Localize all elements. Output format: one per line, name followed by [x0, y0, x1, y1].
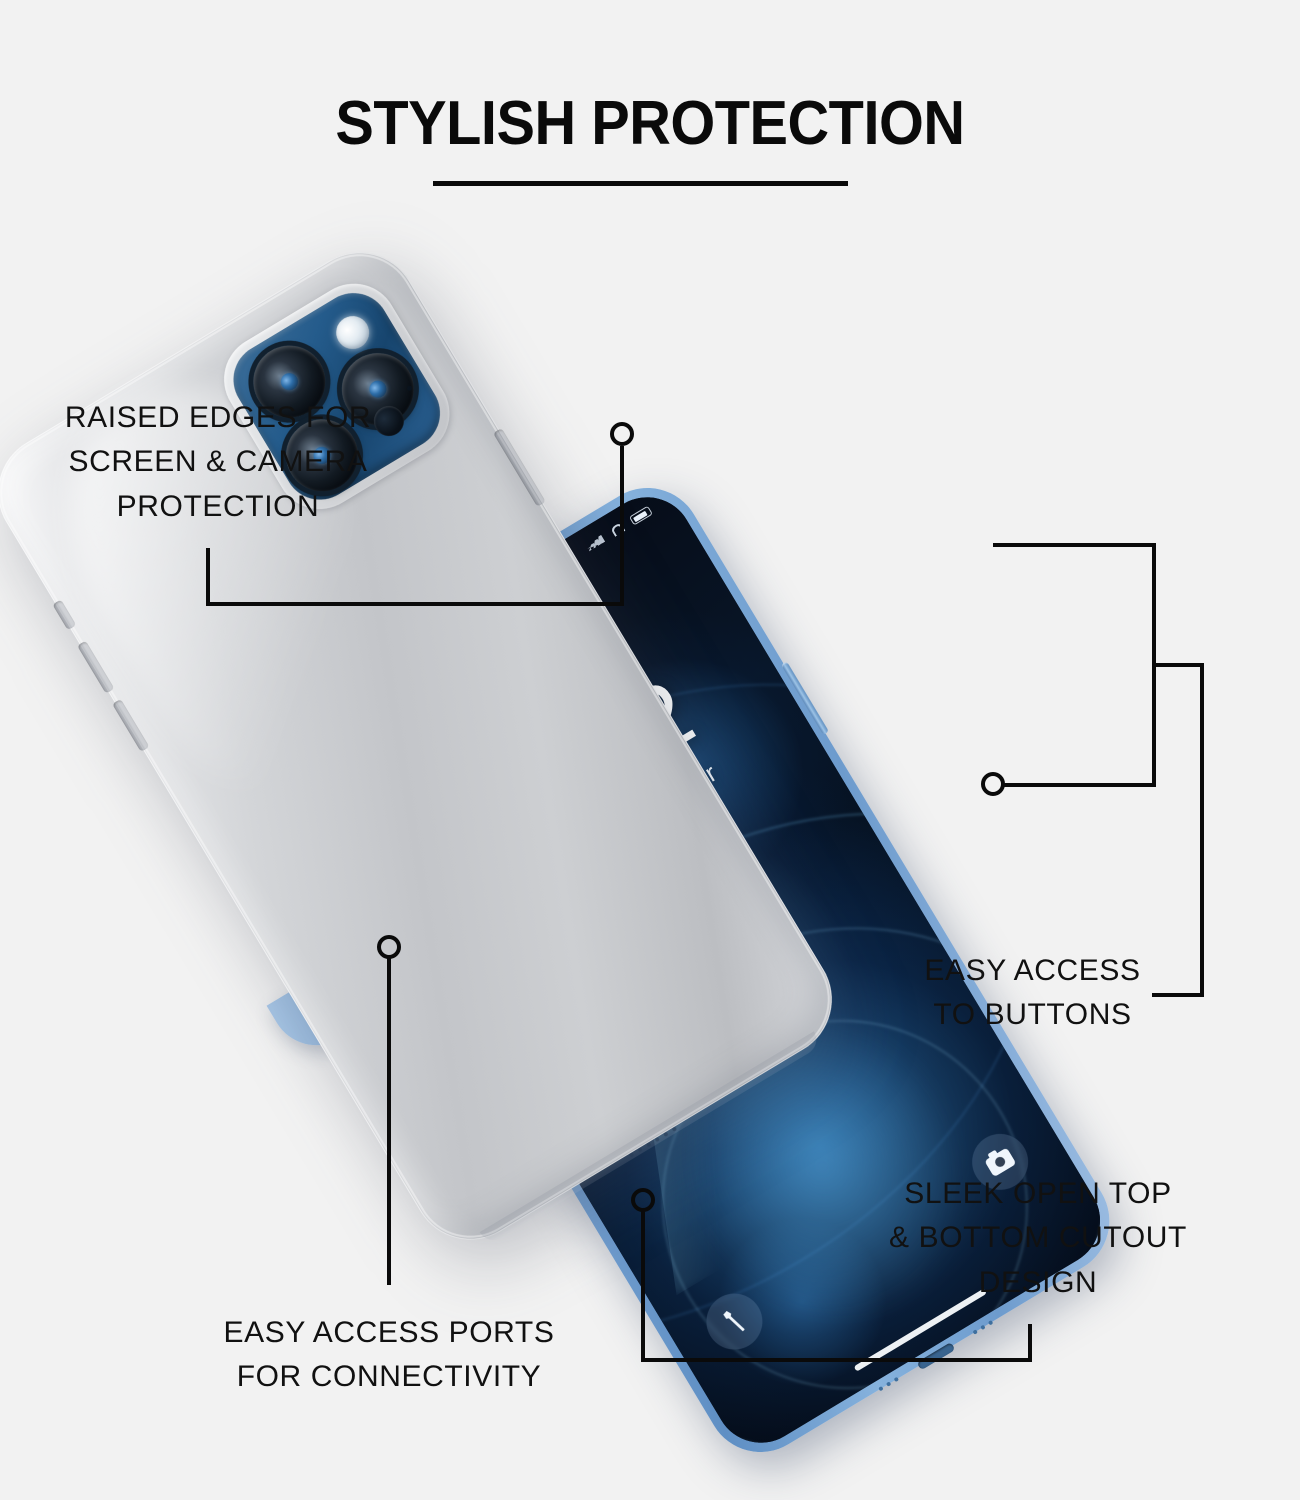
- flashlight-icon: [721, 1309, 747, 1334]
- callout-line-raised-edges: [206, 548, 210, 606]
- callout-label-raised-edges: RAISED EDGES FOR SCREEN & CAMERA PROTECT…: [28, 396, 408, 529]
- callout-line-open-top-bottom: [641, 1358, 1032, 1362]
- callout-line-open-top-bottom: [641, 1210, 645, 1362]
- callout-line-easy-access-buttons: [993, 543, 1156, 547]
- callout-marker-open-top-bottom: [631, 1188, 655, 1212]
- callout-line-raised-edges: [620, 446, 624, 604]
- callout-label-easy-access-buttons: EASY ACCESS TO BUTTONS: [880, 949, 1185, 1038]
- callout-line-raised-edges: [206, 602, 624, 606]
- callout-label-open-top-bottom: SLEEK OPEN TOP & BOTTOM CUTOUT DESIGN: [878, 1172, 1198, 1305]
- callout-line-open-top-bottom: [1028, 1324, 1032, 1362]
- callout-marker-easy-access-buttons: [981, 772, 1005, 796]
- flash-icon: [330, 310, 375, 355]
- callout-line-easy-access-buttons: [1003, 783, 1156, 787]
- callout-line-access-ports: [387, 957, 391, 1285]
- callout-label-access-ports: EASY ACCESS PORTS FOR CONNECTIVITY: [198, 1311, 580, 1400]
- speaker-grille-right: [972, 1320, 993, 1335]
- speaker-grille-left: [878, 1377, 899, 1392]
- callout-marker-raised-edges: [610, 422, 634, 446]
- callout-line-easy-access-buttons: [1200, 663, 1204, 997]
- callout-line-easy-access-buttons: [1152, 663, 1204, 667]
- callout-marker-access-ports: [377, 935, 401, 959]
- infographic-canvas: STYLISH PROTECTION: [0, 0, 1300, 1500]
